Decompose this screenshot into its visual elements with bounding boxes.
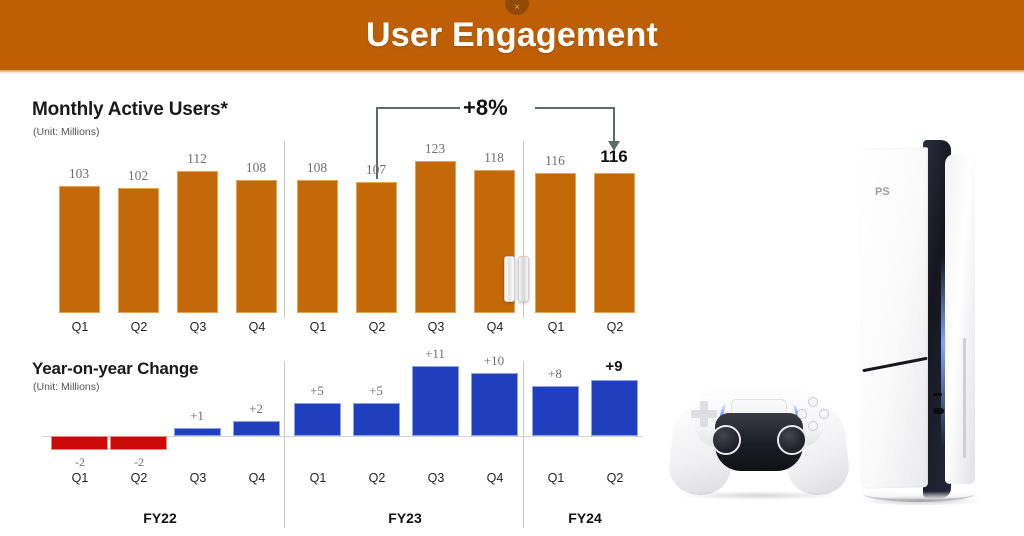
yoy-bar-positive[interactable] xyxy=(174,428,221,436)
yoy-quarter-label: Q1 xyxy=(531,471,581,485)
yoy-value-label: +10 xyxy=(469,353,519,369)
mau-quarter-label: Q2 xyxy=(114,320,164,334)
yoy-quarter-label: Q1 xyxy=(293,471,343,485)
bracket-right-stem xyxy=(613,107,615,143)
yoy-chart-title: Year-on-year Change xyxy=(32,359,198,379)
bracket-top-right xyxy=(535,107,615,109)
bracket-top-left xyxy=(376,107,460,109)
product-imagery: PS xyxy=(655,73,1024,536)
mau-value-label: 123 xyxy=(410,141,460,157)
yoy-quarter-label: Q3 xyxy=(411,471,461,485)
mau-value-label: 108 xyxy=(231,160,281,176)
charts-panel: Monthly Active Users* (Unit: Millions) +… xyxy=(0,73,660,536)
yoy-quarter-label: Q2 xyxy=(114,471,164,485)
mau-bar[interactable] xyxy=(415,161,456,313)
mau-bar[interactable] xyxy=(118,188,159,313)
controller-shadow xyxy=(679,491,839,500)
yoy-bar-positive[interactable] xyxy=(591,380,638,436)
yoy-bar-positive[interactable] xyxy=(353,403,400,436)
mau-quarter-label: Q3 xyxy=(411,320,461,334)
mau-bar[interactable] xyxy=(594,173,635,313)
yoy-chart-unit: (Unit: Millions) xyxy=(33,381,100,393)
ps5-console-image: PS xyxy=(855,138,985,500)
fiscal-year-label-fy23: FY23 xyxy=(355,510,455,526)
right-analog-stick xyxy=(777,425,807,455)
yoy-value-label: +8 xyxy=(530,366,580,382)
circle-button-icon xyxy=(819,409,829,419)
fy-divider-fy22-fy23 xyxy=(284,488,285,528)
yoy-value-label: +5 xyxy=(292,383,342,399)
mau-quarter-label: Q4 xyxy=(232,320,282,334)
yoy-bar-positive[interactable] xyxy=(532,386,579,436)
mau-chart-unit: (Unit: Millions) xyxy=(33,126,100,138)
square-button-icon xyxy=(797,409,807,419)
growth-percent-label: +8% xyxy=(463,95,508,121)
left-analog-stick xyxy=(711,425,741,455)
yoy-group-divider-fy22-fy23 xyxy=(284,361,285,509)
yoy-value-label: +11 xyxy=(410,346,460,362)
ps5-right-panel xyxy=(945,154,975,485)
cross-button-icon xyxy=(808,421,818,431)
page-title: User Engagement xyxy=(366,16,658,55)
mau-quarter-label: Q2 xyxy=(352,320,402,334)
mau-quarter-label: Q1 xyxy=(293,320,343,334)
dualsense-controller-image xyxy=(669,373,849,498)
yoy-value-label: +1 xyxy=(172,408,222,424)
mau-value-label: 116 xyxy=(530,153,580,169)
yoy-quarter-label: Q2 xyxy=(352,471,402,485)
mau-quarter-label: Q4 xyxy=(470,320,520,334)
fy-divider-fy23-fy24 xyxy=(523,488,524,528)
yoy-quarter-label: Q3 xyxy=(173,471,223,485)
mau-value-label-highlight: 116 xyxy=(588,147,640,167)
yoy-bar-positive[interactable] xyxy=(294,403,341,436)
mau-value-label: 108 xyxy=(292,160,342,176)
yoy-group-divider-fy23-fy24 xyxy=(523,361,524,509)
triangle-button-icon xyxy=(808,397,818,407)
chart-scroll-handle-right[interactable] xyxy=(518,256,529,302)
mau-value-label: 103 xyxy=(54,166,104,182)
mau-value-label: 102 xyxy=(113,168,163,184)
mau-bar[interactable] xyxy=(236,180,277,313)
mau-bar[interactable] xyxy=(177,171,218,313)
mau-value-label: 112 xyxy=(172,151,222,167)
mau-quarter-label: Q3 xyxy=(173,320,223,334)
ps5-usb-port-icon xyxy=(933,393,942,396)
playstation-logo-icon: PS xyxy=(875,186,890,198)
ps5-shadow xyxy=(861,496,981,506)
mau-group-divider-fy22-fy23 xyxy=(284,141,285,318)
mau-value-label: 118 xyxy=(469,150,519,166)
yoy-bar-positive[interactable] xyxy=(412,366,459,436)
mau-bar[interactable] xyxy=(356,182,397,313)
mau-quarter-label: Q1 xyxy=(55,320,105,334)
yoy-value-label: +2 xyxy=(231,401,281,417)
yoy-bar-negative[interactable] xyxy=(110,436,167,450)
yoy-value-label: +5 xyxy=(351,383,401,399)
chart-scroll-handle-left[interactable] xyxy=(504,256,515,302)
ps5-usbc-port-icon xyxy=(933,408,944,414)
mau-chart-title: Monthly Active Users* xyxy=(32,99,228,121)
mau-bar[interactable] xyxy=(297,180,338,313)
mau-value-label: 107 xyxy=(351,162,401,178)
mau-bar[interactable] xyxy=(59,186,100,313)
yoy-quarter-label: Q2 xyxy=(590,471,640,485)
slide-root: User Engagement × Monthly Active Users* … xyxy=(0,0,1024,536)
ps5-vent-slot xyxy=(963,338,966,458)
ps5-left-panel xyxy=(860,147,928,489)
yoy-value-label: -2 xyxy=(114,455,164,470)
fiscal-year-label-fy24: FY24 xyxy=(535,510,635,526)
mau-quarter-label: Q2 xyxy=(590,320,640,334)
yoy-quarter-label: Q1 xyxy=(55,471,105,485)
yoy-bar-positive[interactable] xyxy=(471,373,518,436)
yoy-quarter-label: Q4 xyxy=(470,471,520,485)
dpad-icon xyxy=(691,401,717,427)
fiscal-year-label-fy22: FY22 xyxy=(110,510,210,526)
yoy-bar-negative[interactable] xyxy=(51,436,108,450)
yoy-bar-positive[interactable] xyxy=(233,421,280,436)
mau-bar[interactable] xyxy=(535,173,576,313)
mau-quarter-label: Q1 xyxy=(531,320,581,334)
yoy-value-label: -2 xyxy=(55,455,105,470)
yoy-quarter-label: Q4 xyxy=(232,471,282,485)
yoy-value-label-highlight: +9 xyxy=(589,358,639,375)
